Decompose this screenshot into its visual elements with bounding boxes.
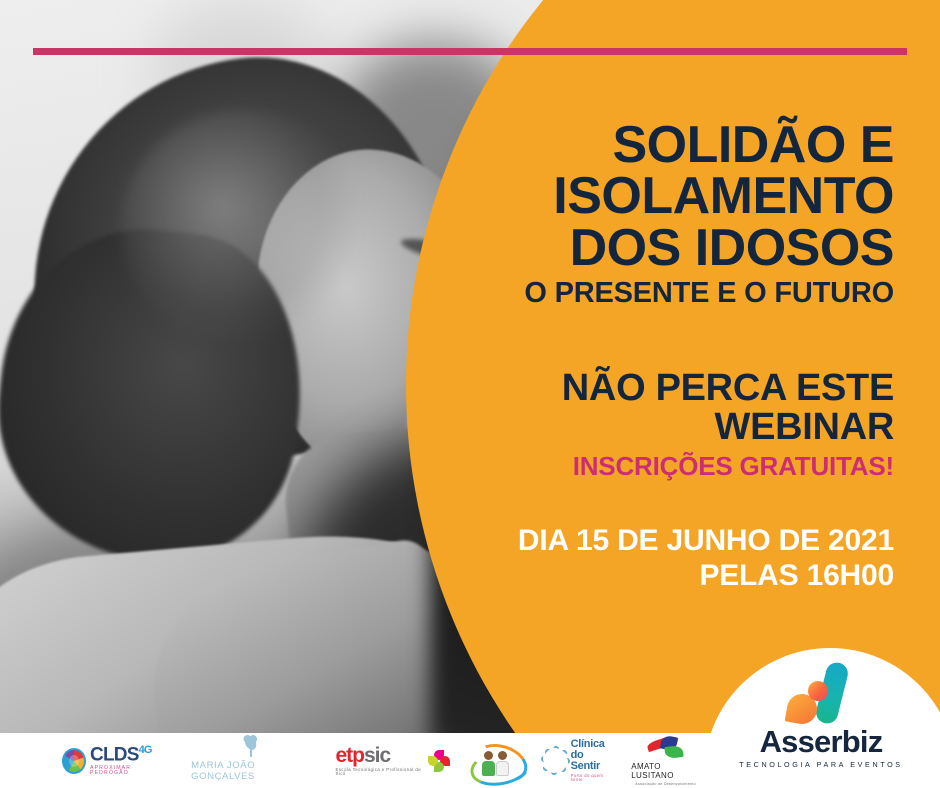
- clinica-text: Clínica do Sentir Porto do quem sente: [571, 739, 614, 782]
- partner-logo-amato-lusitano: AMATO LUSITANO Associação de Desenvolvim…: [631, 733, 700, 788]
- clinica-name-line2: do Sentir: [571, 750, 614, 772]
- child-head: [484, 751, 493, 760]
- partner-logo-clinica-do-sentir: Clínica do Sentir Porto do quem sente: [541, 733, 613, 788]
- partner-logo-etpsic: etpsic Escola Tecnológica e Profissional…: [335, 733, 447, 788]
- bird-shape: [544, 747, 552, 755]
- amato-bird-icon: [645, 736, 687, 760]
- asserbiz-dot-shape: [808, 681, 828, 701]
- poster-copy-block: SOLIDÃO E ISOLAMENTO DOS IDOSOS O PRESEN…: [430, 120, 916, 593]
- etpsic-subtitle: Escola Tecnológica e Profissional de Sic…: [335, 768, 424, 777]
- clds-globe-icon: [62, 748, 86, 774]
- headline-line-2: ISOLAMENTO: [553, 167, 894, 225]
- etpsic-name-red: etp: [335, 744, 364, 767]
- asserbiz-tagline: TECNOLOGIA PARA EVENTOS: [739, 760, 902, 769]
- bird-shape: [541, 755, 548, 762]
- clinica-subtitle: Porto do quem sente: [571, 774, 614, 782]
- poster-canvas: SOLIDÃO E ISOLAMENTO DOS IDOSOS O PRESEN…: [0, 0, 940, 788]
- heart-tree-icon: [244, 739, 258, 757]
- event-time: PELAS 16H00: [699, 559, 894, 592]
- birds-circle-icon: [541, 746, 568, 776]
- stem-shape: [250, 747, 252, 757]
- bird-shape: [551, 769, 557, 775]
- bird-shape: [564, 757, 571, 764]
- child-figure-icon: [482, 751, 496, 776]
- partner-logo-criancas: [470, 741, 521, 781]
- clds-superscript: 4G: [139, 744, 152, 756]
- etpsic-flower-icon: [428, 750, 448, 772]
- bird-shape: [542, 763, 550, 771]
- amato-green-shape: [664, 744, 683, 758]
- event-datetime: DIA 15 DE JUNHO DE 2021 PELAS 16H00: [430, 524, 894, 593]
- etpsic-text: etpsic Escola Tecnológica e Profissional…: [335, 745, 424, 777]
- clds-name-text: CLDS: [90, 744, 139, 765]
- partner-logo-clds4g: CLDS4G APROXIMAR PEDRÓGÃO: [62, 733, 165, 788]
- partner-logo-maria-joao-goncalves: MARIA JOÃO GONÇALVES: [191, 733, 311, 788]
- headline-subtitle: O PRESENTE E O FUTURO: [430, 278, 894, 308]
- maria-joao-goncalves-name: MARIA JOÃO GONÇALVES: [191, 760, 311, 782]
- child-head: [498, 751, 507, 760]
- asserbiz-logo: Asserbiz TECNOLOGIA PARA EVENTOS: [706, 660, 936, 788]
- bird-shape: [559, 764, 567, 772]
- bird-shape: [560, 748, 568, 756]
- amato-subtitle: Associação de Desenvolvimento: [635, 782, 696, 786]
- child-body: [496, 761, 509, 776]
- cta-line-1: NÃO PERCA ESTE: [562, 367, 894, 409]
- headline-line-1: SOLIDÃO E: [612, 116, 894, 174]
- etpsic-name-grey: sic: [364, 744, 390, 767]
- clds-subtitle: APROXIMAR PEDRÓGÃO: [90, 766, 165, 776]
- event-date: DIA 15 DE JUNHO DE 2021: [518, 524, 894, 557]
- bird-shape: [553, 745, 560, 752]
- etpsic-wordmark: etpsic: [335, 745, 424, 766]
- child-body: [482, 761, 495, 776]
- free-registration-note: INSCRIÇÕES GRATUITAS!: [430, 452, 894, 481]
- clds-text: CLDS4G APROXIMAR PEDRÓGÃO: [90, 745, 165, 777]
- child-figure-icon: [496, 751, 510, 776]
- clds-name: CLDS4G: [90, 745, 165, 764]
- cta-text: NÃO PERCA ESTE WEBINAR: [430, 369, 894, 448]
- asserbiz-wordmark: Asserbiz: [760, 726, 883, 757]
- partner-logos: CLDS4G APROXIMAR PEDRÓGÃO MARIA JOÃO GON…: [0, 733, 700, 788]
- amato-name: AMATO LUSITANO: [631, 762, 700, 780]
- page-title: SOLIDÃO E ISOLAMENTO DOS IDOSOS: [430, 120, 894, 274]
- top-divider-rule: [33, 48, 907, 55]
- flower-petal: [428, 756, 438, 766]
- headline-line-3: DOS IDOSOS: [570, 219, 894, 277]
- cta-line-2: WEBINAR: [715, 406, 894, 448]
- asserbiz-a-mark-icon: [773, 662, 869, 724]
